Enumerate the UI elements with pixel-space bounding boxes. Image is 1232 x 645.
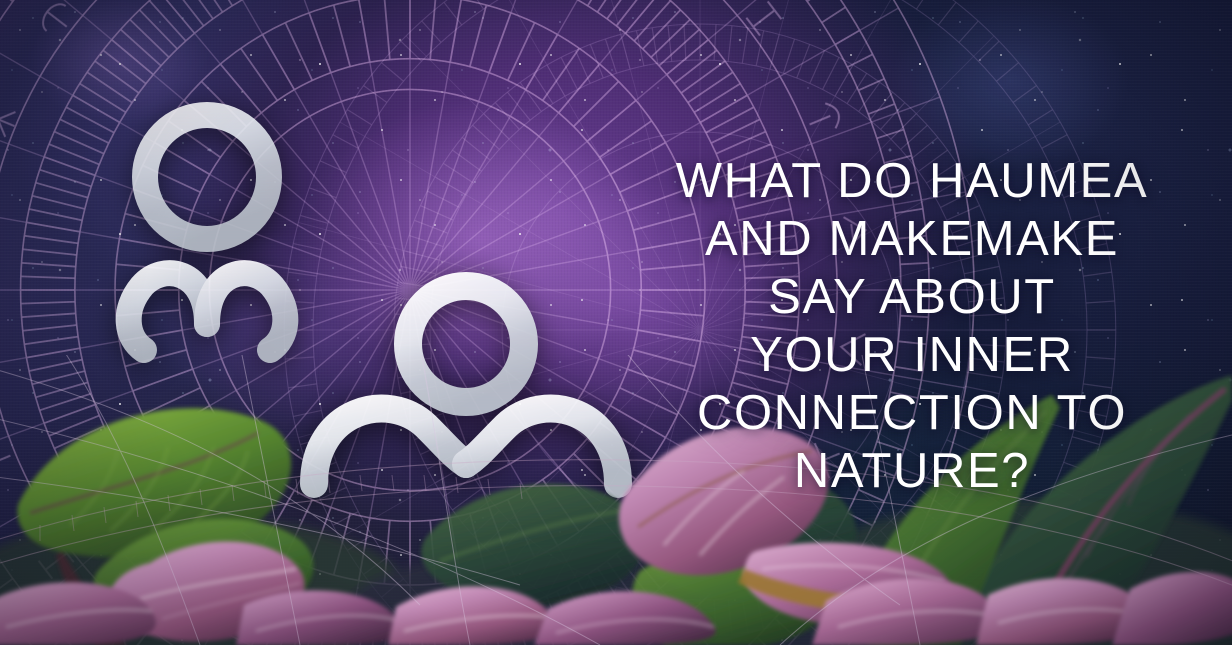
headline-line-2: AND MAKEMAKE bbox=[632, 210, 1192, 268]
headline-line-1: WHAT DO HAUMEA bbox=[632, 152, 1192, 210]
headline-line-3: SAY ABOUT bbox=[632, 268, 1192, 326]
headline-line-5: CONNECTION TO bbox=[632, 384, 1192, 442]
headline-line-6: NATURE? bbox=[632, 442, 1192, 500]
headline: WHAT DO HAUMEA AND MAKEMAKE SAY ABOUT YO… bbox=[632, 152, 1192, 500]
headline-line-4: YOUR INNER bbox=[632, 326, 1192, 384]
banner-root: WHAT DO HAUMEA AND MAKEMAKE SAY ABOUT YO… bbox=[0, 0, 1232, 645]
